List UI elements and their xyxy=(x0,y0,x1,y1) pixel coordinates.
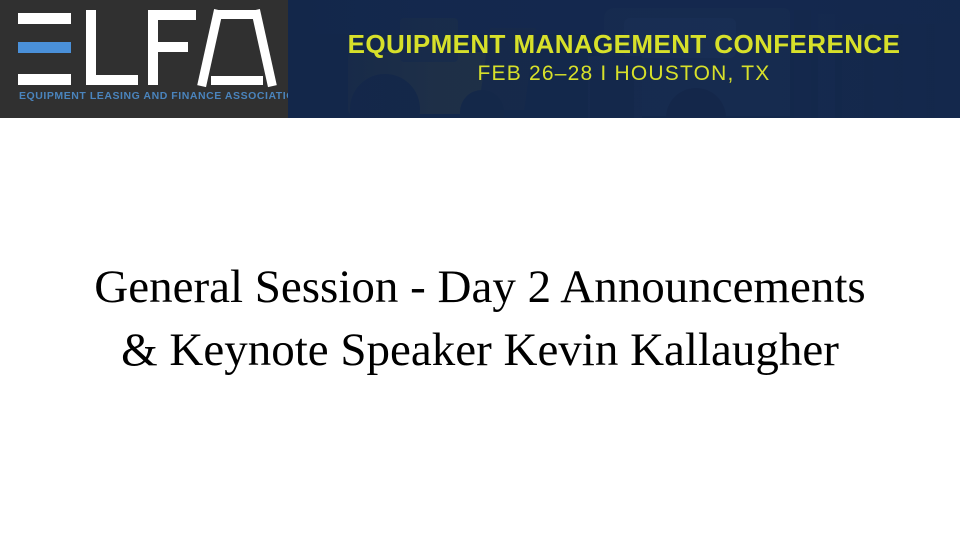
conference-date-location: FEB 26–28 I HOUSTON, TX xyxy=(288,62,960,86)
elfa-letter-f-icon xyxy=(148,10,196,85)
elfa-logo-tagline: EQUIPMENT LEASING AND FINANCE ASSOCIATIO… xyxy=(19,90,288,102)
elfa-a-base xyxy=(211,76,263,85)
slide-title: General Session - Day 2 Announcements & … xyxy=(30,256,930,382)
conference-title: EQUIPMENT MANAGEMENT CONFERENCE xyxy=(288,29,960,60)
elfa-l-stem xyxy=(86,10,96,85)
elfa-letter-e-icon xyxy=(18,10,71,88)
slide-body: General Session - Day 2 Announcements & … xyxy=(0,118,960,540)
slide-title-line-1: General Session - Day 2 Announcements xyxy=(30,256,930,319)
conference-text-group: EQUIPMENT MANAGEMENT CONFERENCE FEB 26–2… xyxy=(288,0,960,118)
elfa-letter-l-icon xyxy=(86,10,138,85)
elfa-f-arm-top xyxy=(148,10,196,20)
elfa-f-arm-middle xyxy=(148,42,188,52)
elfa-letter-a-icon xyxy=(204,10,270,85)
slide-title-line-2: & Keynote Speaker Kevin Kallaugher xyxy=(30,319,930,382)
elfa-logo-panel: EQUIPMENT LEASING AND FINANCE ASSOCIATIO… xyxy=(0,0,288,118)
elfa-wordmark-logo xyxy=(18,10,270,88)
elfa-e-bar-middle-accent xyxy=(18,42,71,53)
elfa-e-bar-bottom xyxy=(18,74,71,85)
elfa-l-foot xyxy=(86,75,138,85)
elfa-e-bar-top xyxy=(18,13,71,24)
header-banner: EQUIPMENT LEASING AND FINANCE ASSOCIATIO… xyxy=(0,0,960,118)
conference-banner-panel: EQUIPMENT MANAGEMENT CONFERENCE FEB 26–2… xyxy=(288,0,960,118)
